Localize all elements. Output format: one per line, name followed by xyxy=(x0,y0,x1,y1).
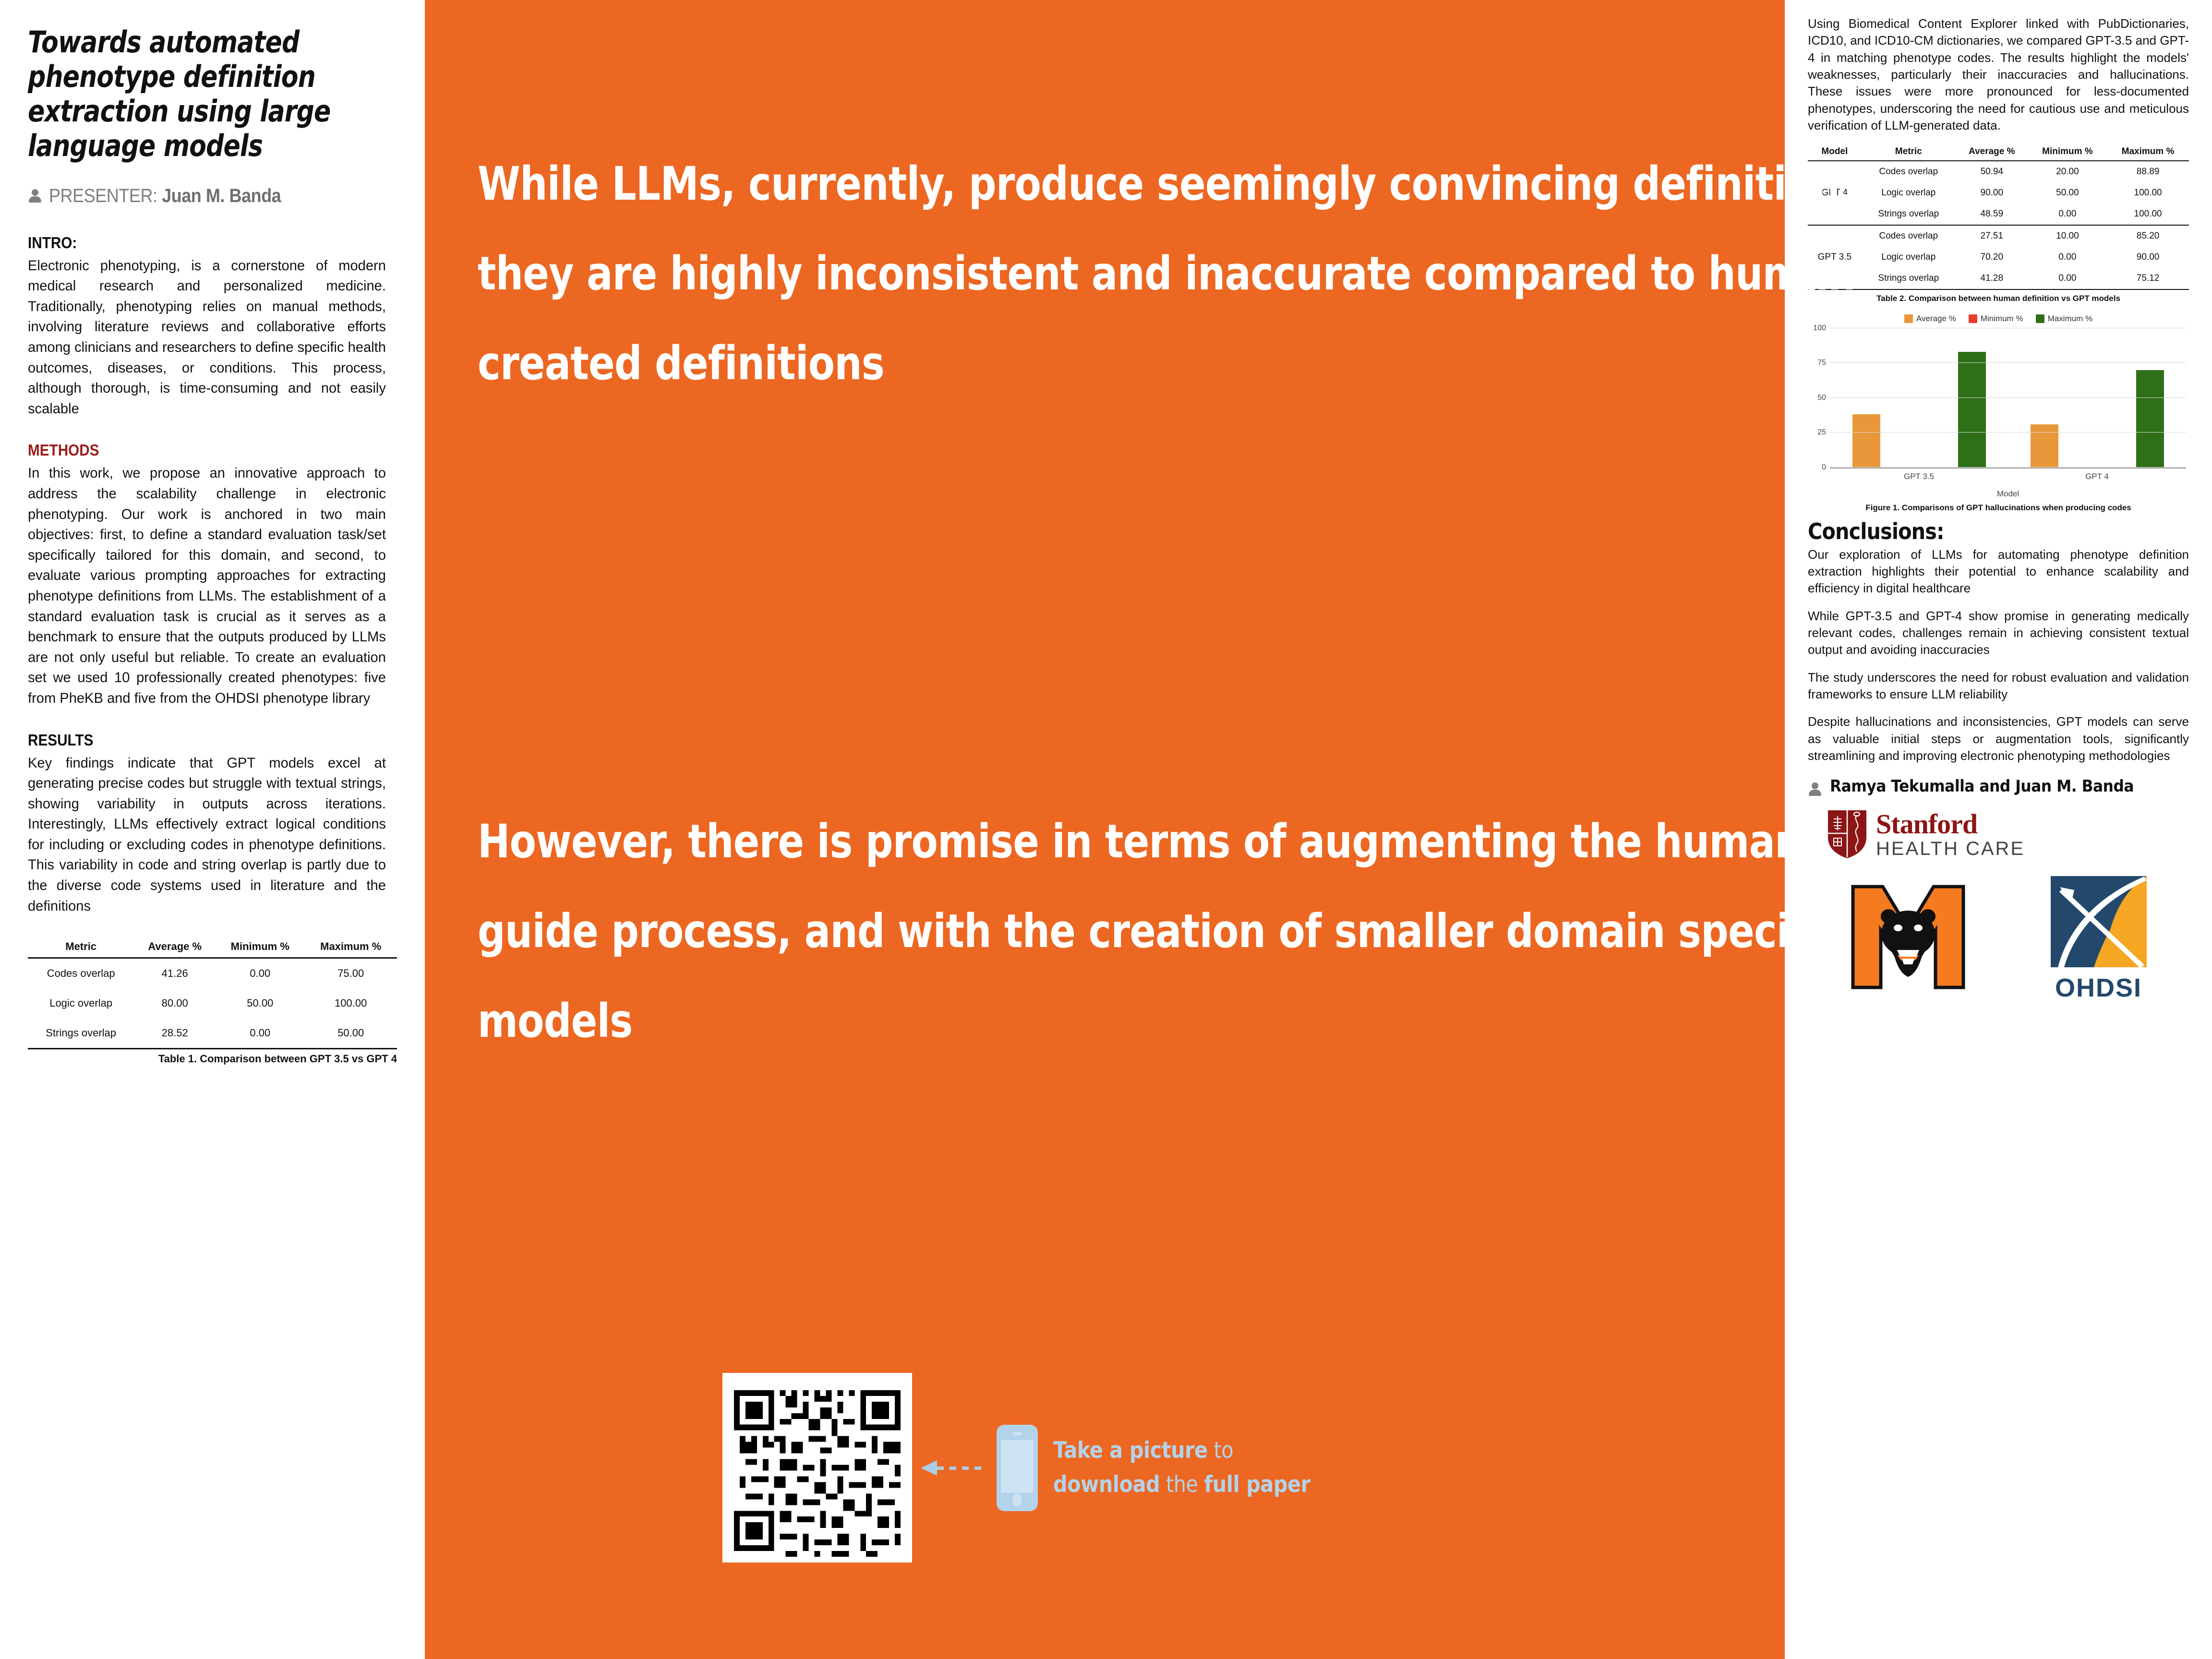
x-tick-gpt4: GPT 4 xyxy=(2019,472,2175,481)
results-text: Key findings indicate that GPT models ex… xyxy=(28,753,386,917)
headline-secondary: However, there is promise in terms of au… xyxy=(478,797,1894,1067)
page-title: Towards automated phenotype definition e… xyxy=(28,25,397,163)
table1-wrapper: Metric Average % Minimum % Maximum % Cod… xyxy=(28,938,397,1065)
chart-gridline xyxy=(1830,397,2186,398)
chart-y-tick-50: 50 xyxy=(1817,394,1826,402)
ohdsi-logo: OHDSI xyxy=(2048,874,2149,1003)
table1-r0c0: Codes overlap xyxy=(28,958,134,989)
bar-gpt35-maximum xyxy=(1958,352,1986,468)
left-column: Towards automated phenotype definition e… xyxy=(0,0,425,1659)
table2-col-4: Maximum % xyxy=(2107,145,2189,161)
center-column: While LLMs, currently, produce seemingly… xyxy=(425,0,1785,1659)
table1-col-3: Maximum % xyxy=(304,938,397,958)
legend-item-average: Average % xyxy=(1904,314,1956,324)
chart-gridline xyxy=(1830,362,2186,363)
person-icon xyxy=(28,188,42,204)
table1-r1c2: 50.00 xyxy=(216,988,304,1018)
figure1-caption: Figure 1. Comparisons of GPT hallucinati… xyxy=(1808,503,2189,513)
intro-text: Electronic phenotyping, is a cornerstone… xyxy=(28,256,386,420)
figure1-bar-chart: Average % Minimum % Maximum % xyxy=(1808,314,2189,496)
ohdsi-x-icon xyxy=(2048,963,2149,972)
qr-code-icon[interactable] xyxy=(722,1373,912,1563)
presenter-row: PRESENTER: Juan M. Banda xyxy=(28,185,397,207)
table2-col-3: Minimum % xyxy=(2028,145,2107,161)
stanford-wordmark: Stanford HEALTH CARE xyxy=(1876,810,2025,858)
headline-primary: While LLMs, currently, produce seemingly… xyxy=(478,139,1894,409)
table1-r1c1: 80.00 xyxy=(134,988,216,1018)
table1-r0c3: 75.00 xyxy=(304,958,397,989)
table2-g0r0c3: 88.89 xyxy=(2107,161,2189,182)
chart-bars xyxy=(1830,328,2186,468)
table1-col-1: Average % xyxy=(134,938,216,958)
table-row: Strings overlap 28.52 0.00 50.00 xyxy=(28,1018,397,1049)
person-icon xyxy=(1808,781,1822,797)
table1: Metric Average % Minimum % Maximum % Cod… xyxy=(28,938,397,1049)
table2-g1r0c2: 10.00 xyxy=(2028,225,2107,247)
legend-swatch-maximum xyxy=(2036,314,2044,323)
health-care-word: HEALTH CARE xyxy=(1876,839,2025,858)
legend-label-minimum: Minimum % xyxy=(1981,314,2023,324)
qr-line2-bold-b: full paper xyxy=(1204,1471,1310,1498)
table2-g0r2c1: 48.59 xyxy=(1956,204,2028,225)
legend-item-maximum: Maximum % xyxy=(2036,314,2093,324)
table2-g0r1c2: 50.00 xyxy=(2028,182,2107,204)
presenter-text: PRESENTER: Juan M. Banda xyxy=(49,185,281,207)
x-tick-gpt35: GPT 3.5 xyxy=(1840,472,1997,481)
stanford-shield-icon xyxy=(1827,809,1867,859)
bar-gpt4-average xyxy=(2031,424,2058,468)
methods-text: In this work, we propose an innovative a… xyxy=(28,463,386,709)
conclusion-paragraph-2: While GPT-3.5 and GPT-4 show promise in … xyxy=(1808,608,2189,659)
table2-g1r1c2: 0.00 xyxy=(2028,247,2107,268)
chart-legend: Average % Minimum % Maximum % xyxy=(1808,314,2189,324)
qr-callout: Take a picture to download the full pape… xyxy=(722,1373,1346,1563)
ohdsi-wordmark: OHDSI xyxy=(2048,973,2149,1003)
table2-g1r0c3: 85.20 xyxy=(2107,225,2189,247)
bar-group-gpt4 xyxy=(2019,328,2175,468)
chart-gridline xyxy=(1830,328,2186,328)
chart-plot-area: 0255075100 xyxy=(1830,328,2186,469)
qr-line1-rest: to xyxy=(1208,1437,1233,1464)
table2-g1r1c3: 90.00 xyxy=(2107,247,2189,268)
legend-label-maximum: Maximum % xyxy=(2048,314,2093,324)
table2-g0r2c3: 100.00 xyxy=(2107,204,2189,225)
authors-row: Ramya Tekumalla and Juan M. Banda xyxy=(1808,777,2189,797)
poster-root: Towards automated phenotype definition e… xyxy=(0,0,2212,1659)
table2-col-2: Average % xyxy=(1956,145,2028,161)
table2-g1r2c3: 75.12 xyxy=(2107,268,2189,289)
chart-gridline xyxy=(1830,467,2186,468)
table2-g1r2c2: 0.00 xyxy=(2028,268,2107,289)
conclusion-paragraph-1: Our exploration of LLMs for automating p… xyxy=(1808,546,2189,597)
chart-y-tick-25: 25 xyxy=(1817,428,1826,437)
chart-y-tick-75: 75 xyxy=(1817,359,1826,367)
chart-x-tick-labels: GPT 3.5 GPT 4 xyxy=(1830,472,2186,481)
table1-r0c2: 0.00 xyxy=(216,958,304,989)
legend-label-average: Average % xyxy=(1916,314,1956,324)
smartphone-icon xyxy=(997,1425,1038,1511)
qr-line2-mid: the xyxy=(1160,1471,1204,1498)
presenter-name: Juan M. Banda xyxy=(162,185,281,206)
table1-r1c3: 100.00 xyxy=(304,988,397,1018)
stanford-word: Stanford xyxy=(1876,810,2025,838)
table1-caption: Table 1. Comparison between GPT 3.5 vs G… xyxy=(28,1053,397,1065)
chart-y-tick-100: 100 xyxy=(1813,324,1826,333)
table1-col-2: Minimum % xyxy=(216,938,304,958)
bar-group-gpt35 xyxy=(1840,328,1997,468)
left-arrow-icon xyxy=(921,1458,988,1478)
table1-col-0: Metric xyxy=(28,938,134,958)
conclusions-heading: Conclusions: xyxy=(1808,518,2151,544)
intro-heading: INTRO: xyxy=(28,234,360,252)
qr-line1-bold: Take a picture xyxy=(1053,1437,1208,1464)
bar-gpt4-maximum xyxy=(2136,370,2164,468)
table2-g0r1c3: 100.00 xyxy=(2107,182,2189,204)
table1-r2c3: 50.00 xyxy=(304,1018,397,1049)
presenter-label: PRESENTER: xyxy=(49,185,157,206)
right-intro-text: Using Biomedical Content Explorer linked… xyxy=(1808,15,2189,134)
legend-item-minimum: Minimum % xyxy=(1969,314,2023,324)
qr-line2-bold-a: download xyxy=(1053,1471,1160,1498)
table1-r2c2: 0.00 xyxy=(216,1018,304,1049)
chart-gridline xyxy=(1830,432,2186,433)
table-row: Codes overlap 41.26 0.00 75.00 xyxy=(28,958,397,989)
legend-swatch-minimum xyxy=(1969,314,1977,323)
chart-x-axis-title: Model xyxy=(1827,489,2189,499)
conclusion-paragraph-3: The study underscores the need for robus… xyxy=(1808,669,2189,703)
table1-r1c0: Logic overlap xyxy=(28,988,134,1018)
authors-names: Ramya Tekumalla and Juan M. Banda xyxy=(1830,777,2134,796)
table2-g1r0c1: 27.51 xyxy=(1956,225,2028,247)
table2-g0r1c1: 90.00 xyxy=(1956,182,2028,204)
table1-r2c1: 28.52 xyxy=(134,1018,216,1049)
legend-swatch-average xyxy=(1904,314,1913,323)
table2-g0r0c1: 50.94 xyxy=(1956,161,2028,182)
chart-y-tick-0: 0 xyxy=(1822,463,1826,472)
table-row: Logic overlap 80.00 50.00 100.00 xyxy=(28,988,397,1018)
table1-r2c0: Strings overlap xyxy=(28,1018,134,1049)
table1-header-row: Metric Average % Minimum % Maximum % xyxy=(28,938,397,958)
bar-gpt35-average xyxy=(1852,414,1880,467)
table2-g0r0c2: 20.00 xyxy=(2028,161,2107,182)
methods-heading: METHODS xyxy=(28,441,360,459)
results-heading: RESULTS xyxy=(28,731,360,749)
conclusion-paragraph-4: Despite hallucinations and inconsistenci… xyxy=(1808,713,2189,764)
table1-r0c1: 41.26 xyxy=(134,958,216,989)
table2-g1r1c1: 70.20 xyxy=(1956,247,2028,268)
qr-instruction-text: Take a picture to download the full pape… xyxy=(1053,1434,1310,1502)
table2-g1r2c1: 41.28 xyxy=(1956,268,2028,289)
table2-g0r2c2: 0.00 xyxy=(2028,204,2107,225)
